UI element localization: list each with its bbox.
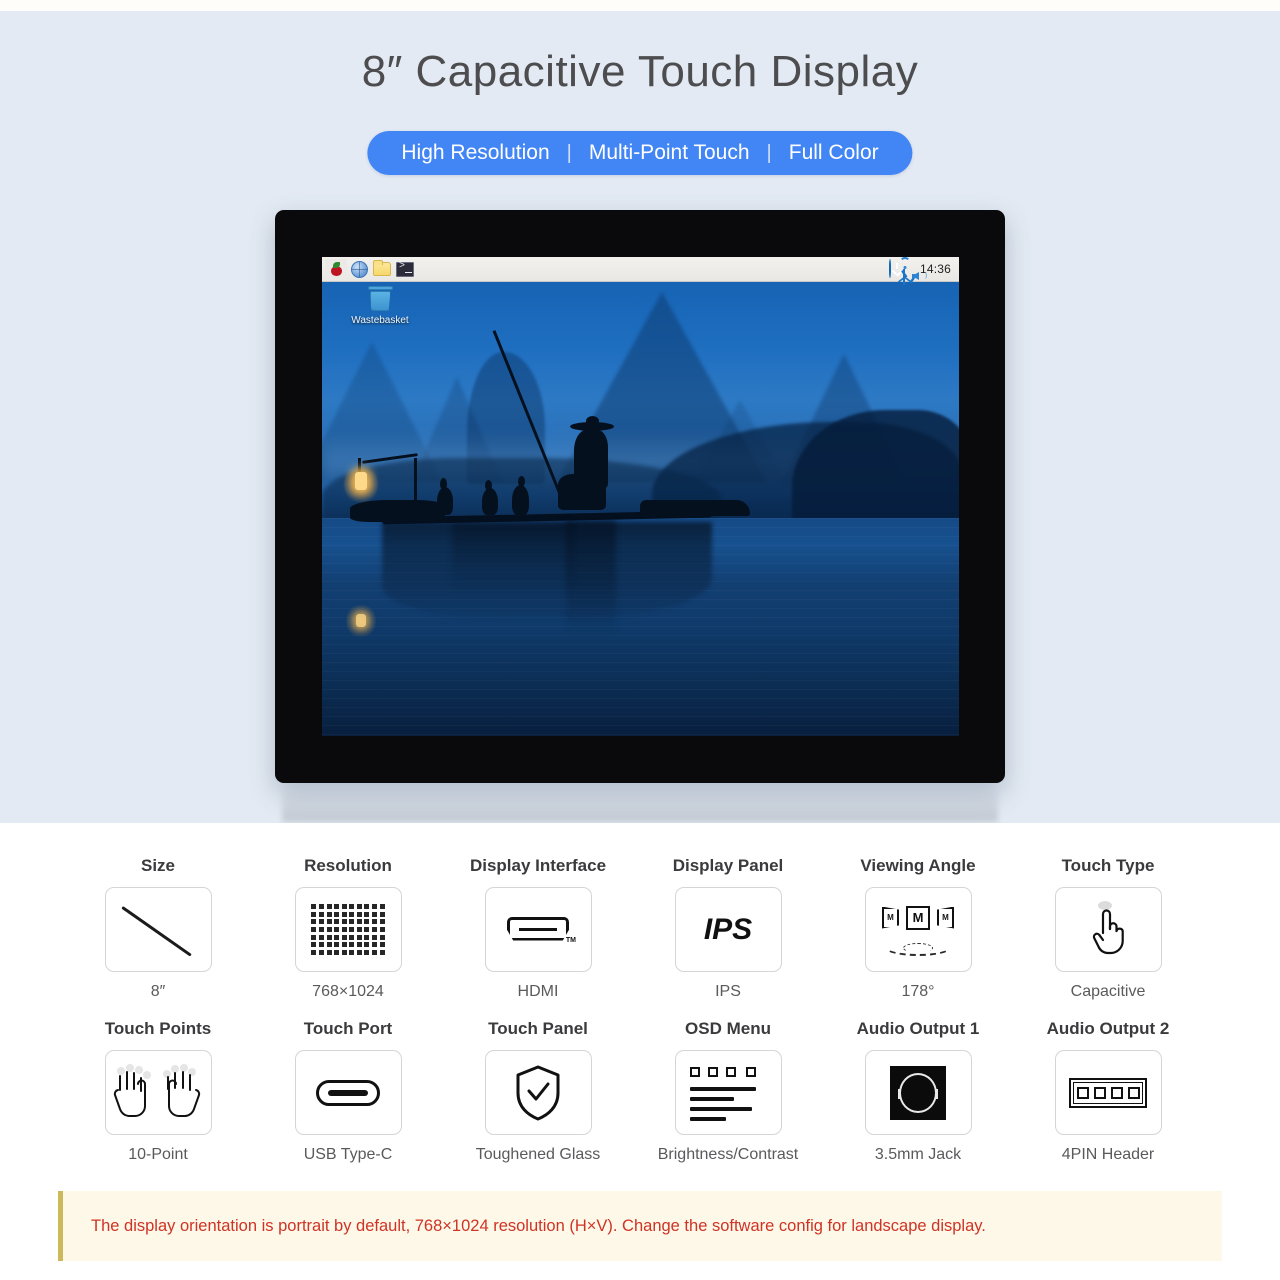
page-title: 8″ Capacitive Touch Display bbox=[0, 47, 1280, 97]
spec-title: Resolution bbox=[304, 856, 392, 876]
web-browser-icon[interactable] bbox=[348, 259, 370, 280]
spec-value: Capacitive bbox=[1071, 983, 1146, 1001]
badge-separator: | bbox=[550, 142, 589, 165]
spec-value: Toughened Glass bbox=[476, 1146, 601, 1164]
feature-high-resolution: High Resolution bbox=[401, 141, 549, 165]
feature-badge: High Resolution | Multi-Point Touch | Fu… bbox=[367, 131, 912, 175]
spec-title: Viewing Angle bbox=[860, 856, 975, 876]
viewing-angle-left-m: M bbox=[882, 907, 899, 929]
taskbar: 14:36 bbox=[322, 257, 959, 282]
specs-section: Size 8″ Resolution 768×1024 Display Inte… bbox=[0, 823, 1280, 1193]
spec-viewing-angle: Viewing Angle M M M 178° bbox=[823, 856, 1013, 1001]
spec-value: 3.5mm Jack bbox=[875, 1146, 961, 1164]
two-hands-icon bbox=[105, 1050, 212, 1135]
spec-value: HDMI bbox=[518, 983, 559, 1001]
pointing-hand-icon bbox=[1055, 887, 1162, 972]
spec-size: Size 8″ bbox=[63, 856, 253, 1001]
spec-osd-menu: OSD Menu Brightness/Contrast bbox=[633, 1019, 823, 1164]
spec-value: USB Type-C bbox=[304, 1146, 393, 1164]
spec-value: IPS bbox=[715, 983, 741, 1001]
viewing-angle-icon: M M M bbox=[865, 887, 972, 972]
raspberry-menu-icon[interactable] bbox=[325, 259, 347, 280]
desktop-icon-wastebasket[interactable]: Wastebasket bbox=[340, 286, 420, 326]
spec-audio-output-2: Audio Output 2 4PIN Header bbox=[1013, 1019, 1203, 1164]
spec-title: Touch Panel bbox=[488, 1019, 588, 1039]
spec-touch-port: Touch Port USB Type-C bbox=[253, 1019, 443, 1164]
viewing-angle-center-m: M bbox=[906, 906, 930, 930]
spec-title: Touch Type bbox=[1062, 856, 1155, 876]
feature-full-color: Full Color bbox=[789, 141, 879, 165]
spec-display-interface: Display Interface TM HDMI bbox=[443, 856, 633, 1001]
usb-type-c-icon bbox=[295, 1050, 402, 1135]
spec-title: Audio Output 1 bbox=[857, 1019, 980, 1039]
spec-audio-output-1: Audio Output 1 3.5mm Jack bbox=[823, 1019, 1013, 1164]
spec-row-2: Touch Points bbox=[0, 1001, 1280, 1164]
diagonal-line-icon bbox=[105, 887, 212, 972]
spec-value: 4PIN Header bbox=[1062, 1146, 1155, 1164]
audio-jack-icon bbox=[865, 1050, 972, 1135]
spec-value: 768×1024 bbox=[312, 983, 384, 1001]
spec-title: Display Interface bbox=[470, 856, 606, 876]
spec-title: Touch Port bbox=[304, 1019, 392, 1039]
orientation-note-text: The display orientation is portrait by d… bbox=[63, 1217, 986, 1236]
spec-touch-panel: Touch Panel Toughened Glass bbox=[443, 1019, 633, 1164]
pin-header-icon bbox=[1055, 1050, 1162, 1135]
desktop-wallpaper: Wastebasket bbox=[322, 282, 959, 736]
spec-title: Audio Output 2 bbox=[1047, 1019, 1170, 1039]
spec-row-1: Size 8″ Resolution 768×1024 Display Inte… bbox=[0, 823, 1280, 1001]
spec-touch-type: Touch Type Capacitive bbox=[1013, 856, 1203, 1001]
ips-label: IPS bbox=[704, 913, 752, 947]
orientation-note: The display orientation is portrait by d… bbox=[58, 1191, 1222, 1261]
system-tray: 14:36 bbox=[889, 260, 956, 278]
osd-menu-icon bbox=[675, 1050, 782, 1135]
spec-display-panel: Display Panel IPS IPS bbox=[633, 856, 823, 1001]
file-manager-icon[interactable] bbox=[371, 259, 393, 280]
badge-separator: | bbox=[750, 142, 789, 165]
wastebasket-icon bbox=[367, 286, 394, 312]
wastebasket-label: Wastebasket bbox=[340, 315, 420, 326]
shield-check-icon bbox=[485, 1050, 592, 1135]
viewing-angle-right-m: M bbox=[937, 907, 954, 929]
top-strip bbox=[0, 0, 1280, 11]
ips-text-icon: IPS bbox=[675, 887, 782, 972]
pixel-grid-icon bbox=[295, 887, 402, 972]
spec-value: 178° bbox=[901, 983, 934, 1001]
spec-title: Display Panel bbox=[673, 856, 784, 876]
spec-title: Size bbox=[141, 856, 175, 876]
hdmi-port-icon: TM bbox=[485, 887, 592, 972]
spec-title: Touch Points bbox=[105, 1019, 211, 1039]
device-screen: Wastebasket bbox=[322, 257, 959, 736]
spec-title: OSD Menu bbox=[685, 1019, 771, 1039]
spec-value: 8″ bbox=[151, 983, 166, 1001]
spec-resolution: Resolution 768×1024 bbox=[253, 856, 443, 1001]
hero-section: 8″ Capacitive Touch Display High Resolut… bbox=[0, 0, 1280, 823]
terminal-icon[interactable] bbox=[394, 259, 416, 280]
feature-multi-point-touch: Multi-Point Touch bbox=[589, 141, 750, 165]
monitor-reflection bbox=[282, 784, 998, 822]
spec-value: Brightness/Contrast bbox=[658, 1146, 799, 1164]
download-icon[interactable] bbox=[889, 260, 891, 278]
spec-touch-points: Touch Points bbox=[63, 1019, 253, 1164]
spec-value: 10-Point bbox=[128, 1146, 188, 1164]
monitor-device: Wastebasket bbox=[275, 210, 1005, 783]
